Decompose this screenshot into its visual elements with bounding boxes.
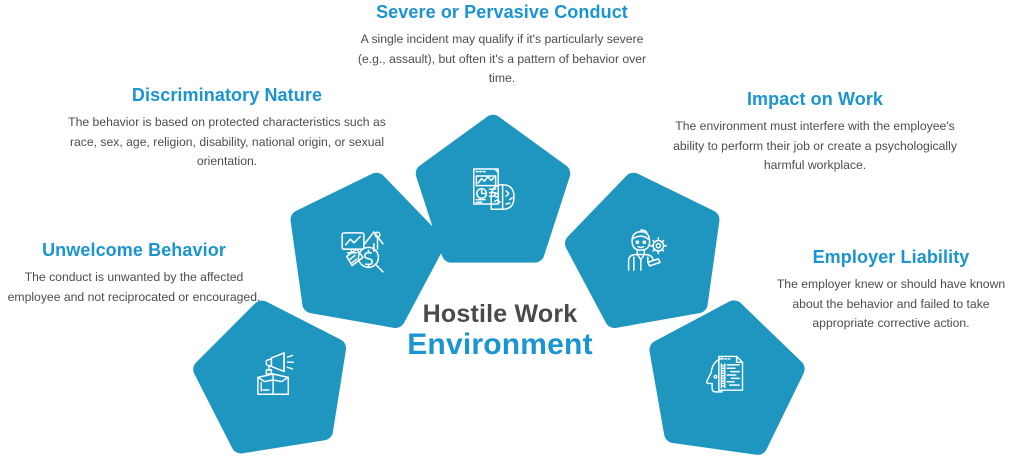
- centre-title-line2: Environment: [377, 328, 623, 362]
- block-body: The conduct is unwanted by the affected …: [5, 268, 263, 308]
- head-document-icon: [697, 348, 751, 407]
- block-impact-on-work: Impact on Work The environment must inte…: [660, 90, 970, 176]
- person-gear-icon: [618, 223, 674, 284]
- block-title: Impact on Work: [660, 90, 970, 110]
- block-title: Discriminatory Nature: [68, 86, 386, 106]
- node-severe-or-pervasive-conduct[interactable]: [418, 120, 568, 270]
- megaphone-box-icon: [246, 347, 300, 406]
- block-title: Severe or Pervasive Conduct: [353, 3, 651, 23]
- infographic-canvas: Hostile Work Environment Severe or Perva…: [0, 0, 1024, 419]
- block-unwelcome-behavior: Unwelcome Behavior The conduct is unwant…: [5, 241, 263, 307]
- block-severe-or-pervasive-conduct: Severe or Pervasive Conduct A single inc…: [353, 3, 651, 89]
- block-discriminatory-nature: Discriminatory Nature The behavior is ba…: [68, 86, 386, 172]
- centre-title: Hostile Work Environment: [377, 300, 623, 362]
- block-body: The employer knew or should have known a…: [762, 275, 1020, 334]
- block-employer-liability: Employer Liability The employer knew or …: [762, 248, 1020, 334]
- block-body: The environment must interfere with the …: [660, 117, 970, 176]
- block-title: Employer Liability: [762, 248, 1020, 268]
- document-brain-head-icon: [465, 162, 521, 223]
- block-title: Unwelcome Behavior: [5, 241, 263, 261]
- block-body: A single incident may qualify if it's pa…: [353, 30, 651, 89]
- chart-magnifier-dollar-icon: [335, 222, 393, 285]
- centre-title-line1: Hostile Work: [377, 300, 623, 328]
- block-body: The behavior is based on protected chara…: [68, 113, 386, 172]
